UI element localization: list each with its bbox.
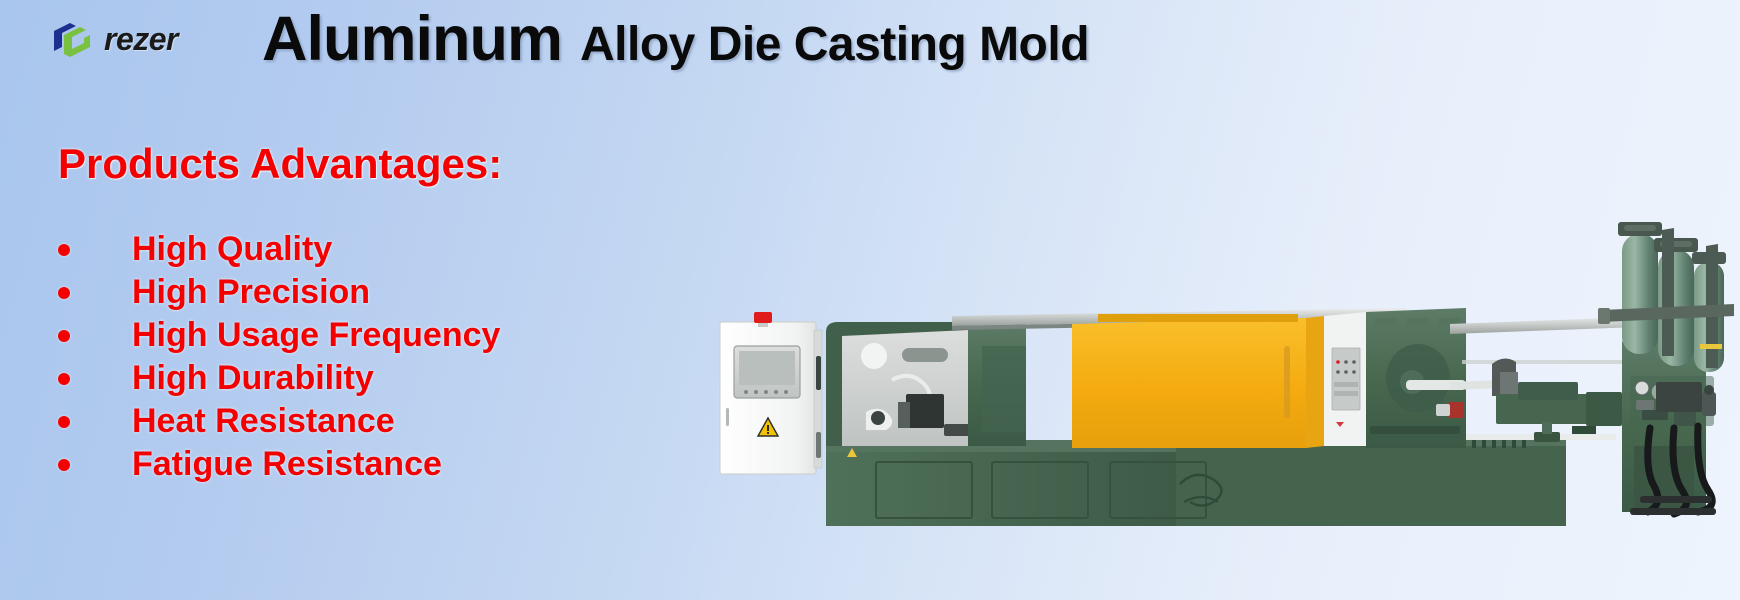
product-banner: rezer Aluminum Alloy Die Casting Mold Pr…: [0, 0, 1740, 600]
advantage-label: Heat Resistance: [132, 402, 395, 441]
advantage-label: High Usage Frequency: [132, 316, 500, 355]
advantages-list: High Quality High Precision High Usage F…: [58, 228, 500, 486]
valve-block: [1630, 376, 1716, 426]
bullet-icon: [58, 244, 70, 256]
bullet-icon: [58, 459, 70, 471]
machine-hood: [826, 322, 1026, 446]
list-item: High Usage Frequency: [58, 314, 500, 357]
side-control-panel: [1324, 312, 1366, 446]
brand-name: rezer: [104, 23, 178, 55]
list-item: Fatigue Resistance: [58, 443, 500, 486]
list-item: High Quality: [58, 228, 500, 271]
bullet-icon: [58, 373, 70, 385]
advantage-label: High Durability: [132, 359, 374, 398]
yellow-safety-door: [1072, 314, 1324, 448]
advantage-label: Fatigue Resistance: [132, 445, 442, 484]
title-rest: Alloy Die Casting Mold: [580, 21, 1089, 69]
control-cabinet: [720, 312, 822, 474]
bullet-icon: [58, 330, 70, 342]
bullet-icon: [58, 287, 70, 299]
machine-base-frame: [826, 440, 1566, 526]
bullet-icon: [58, 416, 70, 428]
advantages-heading: Products Advantages:: [58, 140, 502, 188]
list-item: Heat Resistance: [58, 400, 500, 443]
brand-logo: rezer: [50, 16, 178, 62]
title-emphasis: Aluminum: [262, 8, 562, 71]
die-casting-machine-image: [706, 196, 1740, 526]
list-item: High Durability: [58, 357, 500, 400]
list-item: High Precision: [58, 271, 500, 314]
hmi-display-screen: [734, 346, 800, 398]
banner-title: Aluminum Alloy Die Casting Mold: [262, 8, 1089, 71]
advantage-label: High Quality: [132, 230, 332, 269]
rezer-chevron-mark-icon: [50, 21, 102, 57]
advantage-label: High Precision: [132, 273, 370, 312]
